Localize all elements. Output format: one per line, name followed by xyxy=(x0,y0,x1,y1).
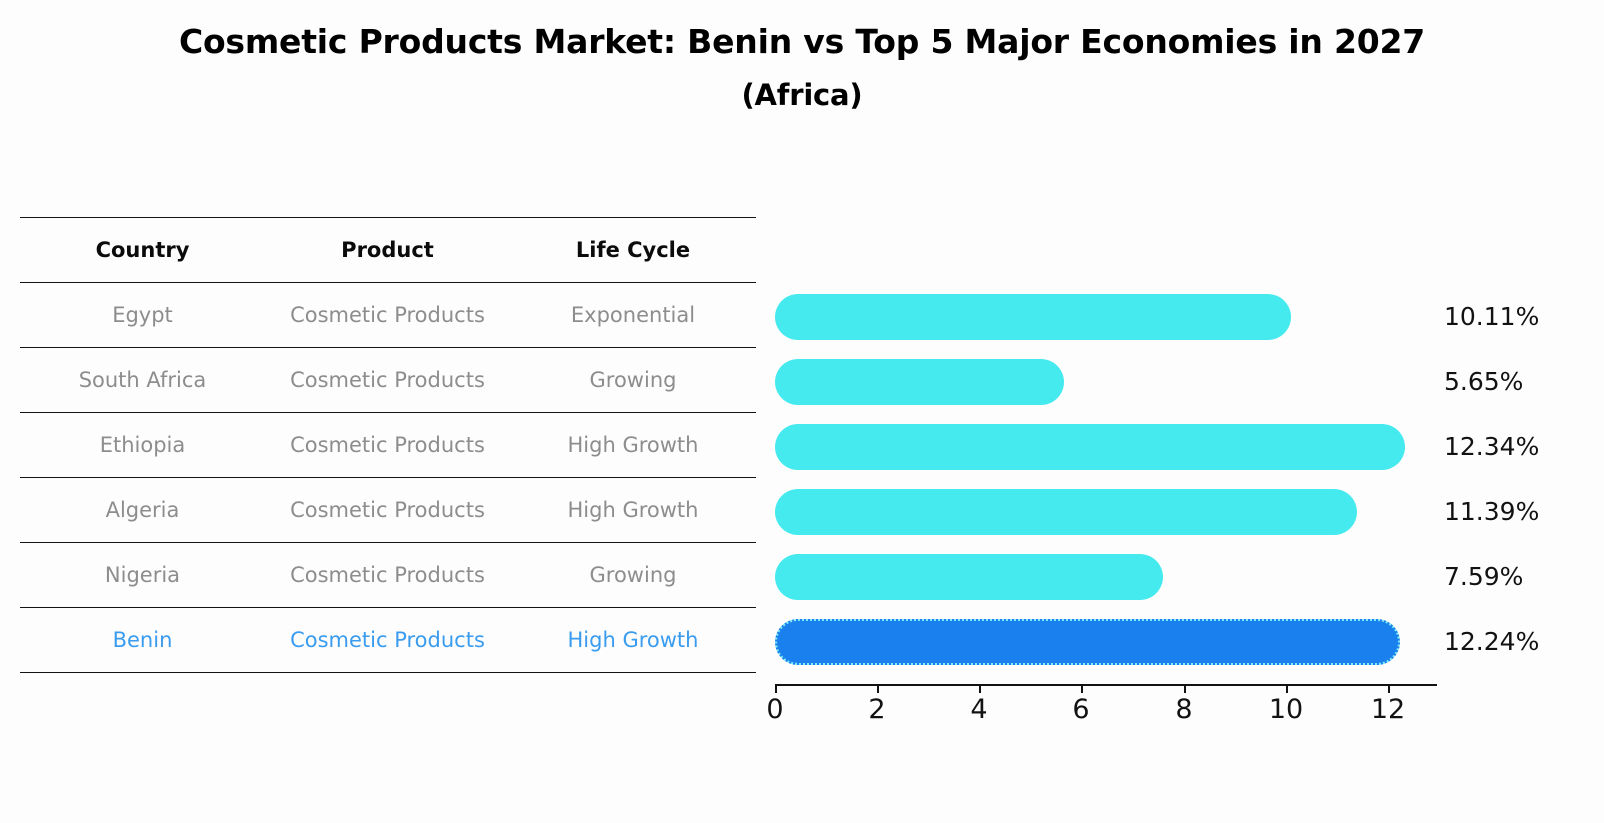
x-tick-12 xyxy=(1388,684,1390,693)
x-tick-0 xyxy=(775,684,777,693)
x-tick-label-6: 6 xyxy=(1072,694,1089,725)
x-tick-4 xyxy=(979,684,981,693)
bar-value-benin: 12.24% xyxy=(1444,619,1539,665)
x-tick-label-4: 4 xyxy=(970,694,987,725)
x-tick-label-8: 8 xyxy=(1175,694,1192,725)
bar-egypt[interactable] xyxy=(775,294,1291,340)
x-tick-label-2: 2 xyxy=(868,694,885,725)
x-tick-label-12: 12 xyxy=(1371,694,1405,725)
x-tick-2 xyxy=(877,684,879,693)
x-axis-line xyxy=(775,684,1437,686)
x-tick-6 xyxy=(1081,684,1083,693)
bar-algeria[interactable] xyxy=(775,489,1357,535)
x-tick-label-10: 10 xyxy=(1269,694,1303,725)
bar-value-algeria: 11.39% xyxy=(1444,489,1539,535)
bar-chart: 10.11% 5.65% 12.34% 11.39% 7.59% 12.24% xyxy=(0,0,1604,823)
bar-value-south-africa: 5.65% xyxy=(1444,359,1523,405)
bar-benin[interactable] xyxy=(775,619,1400,665)
x-tick-label-0: 0 xyxy=(766,694,783,725)
bar-value-ethiopia: 12.34% xyxy=(1444,424,1539,470)
bar-value-egypt: 10.11% xyxy=(1444,294,1539,340)
x-tick-10 xyxy=(1286,684,1288,693)
chart-canvas: Cosmetic Products Market: Benin vs Top 5… xyxy=(0,0,1604,823)
bar-value-nigeria: 7.59% xyxy=(1444,554,1523,600)
bar-ethiopia[interactable] xyxy=(775,424,1405,470)
bar-nigeria[interactable] xyxy=(775,554,1163,600)
x-tick-8 xyxy=(1184,684,1186,693)
bar-south-africa[interactable] xyxy=(775,359,1064,405)
